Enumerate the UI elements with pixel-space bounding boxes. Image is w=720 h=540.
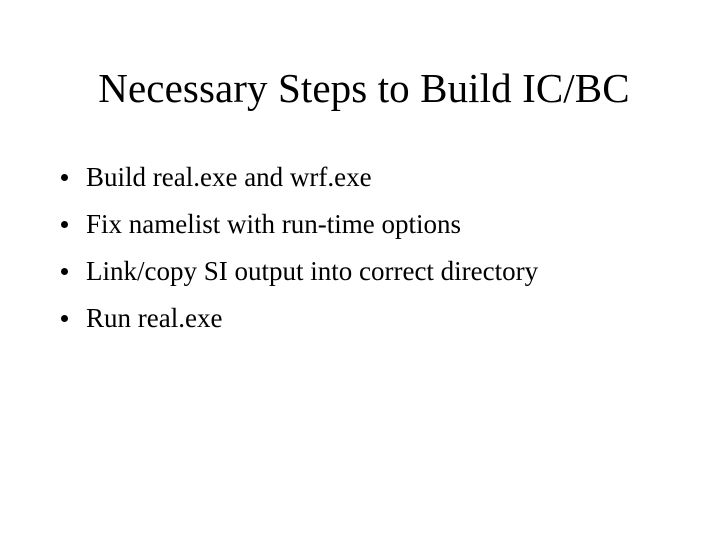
list-item: Link/copy SI output into correct directo… xyxy=(56,254,676,301)
list-item-label: Run real.exe xyxy=(86,301,222,336)
bullet-dot-icon xyxy=(61,315,68,322)
list-item: Run real.exe xyxy=(56,301,676,348)
bullet-list: Build real.exe and wrf.exe Fix namelist … xyxy=(56,160,676,348)
list-item: Build real.exe and wrf.exe xyxy=(56,160,676,207)
list-item-label: Fix namelist with run-time options xyxy=(86,207,461,242)
list-item-label: Build real.exe and wrf.exe xyxy=(86,160,372,195)
page-title: Necessary Steps to Build IC/BC xyxy=(64,64,664,112)
bullet-dot-icon xyxy=(61,174,68,181)
list-item-label: Link/copy SI output into correct directo… xyxy=(86,254,538,289)
list-item: Fix namelist with run-time options xyxy=(56,207,676,254)
bullet-dot-icon xyxy=(61,268,68,275)
presentation-slide: Necessary Steps to Build IC/BC Build rea… xyxy=(0,0,720,540)
bullet-dot-icon xyxy=(61,221,68,228)
